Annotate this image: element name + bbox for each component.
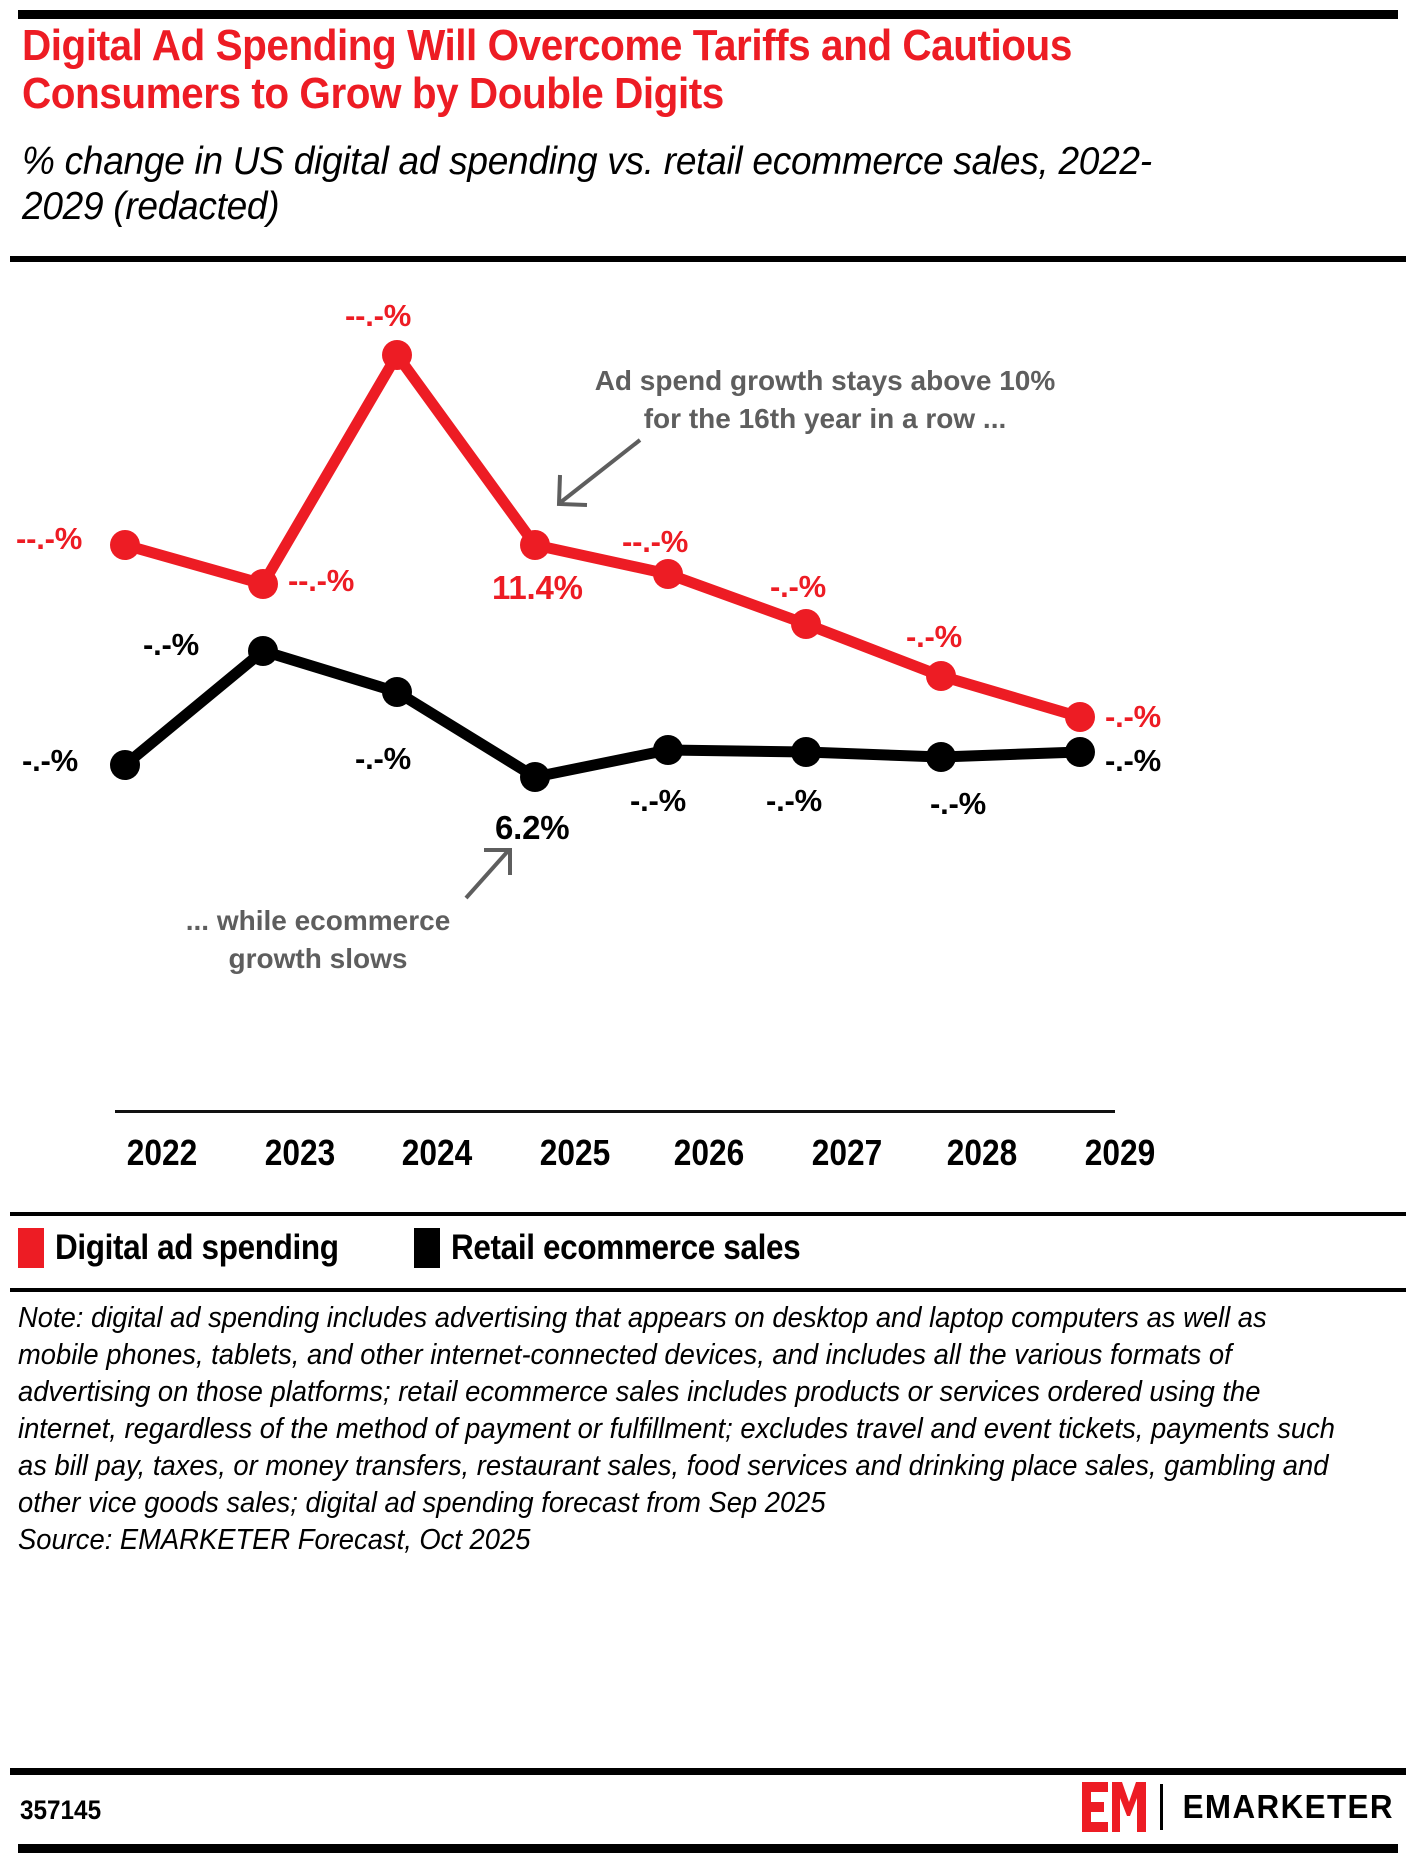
- plot-area: --.-% --.-% --.-% 11.4% --.-% -.-% -.-% …: [0, 262, 1416, 1052]
- chart-title: Digital Ad Spending Will Overcome Tariff…: [22, 22, 1246, 118]
- note-top-rule: [10, 1288, 1406, 1292]
- callout-ad-spend-growth: Ad spend growth stays above 10% for the …: [540, 362, 1110, 438]
- legend-label-retail-ecommerce-sales: Retail ecommerce sales: [451, 1228, 800, 1268]
- x-axis-ticks: 2022 2023 2024 2025 2026 2027 2028 2029: [60, 1132, 1356, 1192]
- x-axis-line: [115, 1110, 1115, 1113]
- data-label-black-2028: -.-%: [930, 786, 986, 822]
- x-tick-2028: 2028: [929, 1132, 1035, 1174]
- legend-swatch-red-icon: [18, 1228, 44, 1268]
- brand-lockup: EMARKETER: [1082, 1782, 1400, 1832]
- data-label-black-2023: -.-%: [143, 627, 199, 663]
- data-label-red-2024: --.-%: [345, 298, 411, 334]
- data-label-black-2027: -.-%: [766, 783, 822, 819]
- top-rule: [18, 10, 1398, 19]
- chart-sheet: Digital Ad Spending Will Overcome Tariff…: [0, 0, 1416, 1862]
- legend-swatch-black-icon: [414, 1228, 440, 1268]
- source-text: Source: EMARKETER Forecast, Oct 2025: [18, 1522, 1343, 1559]
- chart-legend: Digital ad spending Retail ecommerce sal…: [18, 1222, 839, 1274]
- legend-top-rule: [10, 1212, 1406, 1216]
- x-tick-2026: 2026: [656, 1132, 762, 1174]
- data-label-red-2026: --.-%: [622, 524, 688, 560]
- data-label-red-2023: --.-%: [288, 563, 354, 599]
- footer-top-rule: [10, 1768, 1406, 1775]
- data-label-red-2027: -.-%: [770, 569, 826, 605]
- note-text: Note: digital ad spending includes adver…: [18, 1302, 1335, 1519]
- x-tick-2023: 2023: [247, 1132, 353, 1174]
- x-tick-2027: 2027: [794, 1132, 900, 1174]
- data-label-black-2029: -.-%: [1105, 743, 1161, 779]
- data-label-black-2024: -.-%: [355, 741, 411, 777]
- data-label-black-2022: -.-%: [22, 743, 78, 779]
- legend-item-retail-ecommerce-sales: Retail ecommerce sales: [414, 1228, 839, 1268]
- legend-label-digital-ad-spending: Digital ad spending: [55, 1228, 339, 1268]
- callout-ecommerce-slows: ... while ecommerce growth slows: [128, 902, 508, 978]
- callout-arrow-top-icon: [559, 440, 640, 505]
- x-tick-2025: 2025: [522, 1132, 628, 1174]
- x-tick-2024: 2024: [384, 1132, 490, 1174]
- x-tick-2029: 2029: [1067, 1132, 1173, 1174]
- brand-divider: [1160, 1784, 1163, 1830]
- data-label-red-2022: --.-%: [16, 521, 82, 557]
- emarketer-em-logo-icon: [1082, 1782, 1146, 1832]
- chart-id: 357145: [20, 1795, 101, 1826]
- chart-subtitle: % change in US digital ad spending vs. r…: [22, 140, 1162, 230]
- data-label-red-2025: 11.4%: [492, 569, 583, 607]
- data-label-red-2028: -.-%: [906, 619, 962, 655]
- data-label-black-2026: -.-%: [630, 783, 686, 819]
- data-label-black-2025: 6.2%: [495, 809, 569, 847]
- callout-arrow-bottom-icon: [466, 850, 510, 898]
- legend-item-digital-ad-spending: Digital ad spending: [18, 1228, 370, 1268]
- note-block: Note: digital ad spending includes adver…: [18, 1300, 1343, 1559]
- x-tick-2022: 2022: [109, 1132, 215, 1174]
- data-label-red-2029: -.-%: [1105, 699, 1161, 735]
- bottom-rule: [18, 1844, 1398, 1853]
- brand-wordmark: EMARKETER: [1183, 1788, 1394, 1826]
